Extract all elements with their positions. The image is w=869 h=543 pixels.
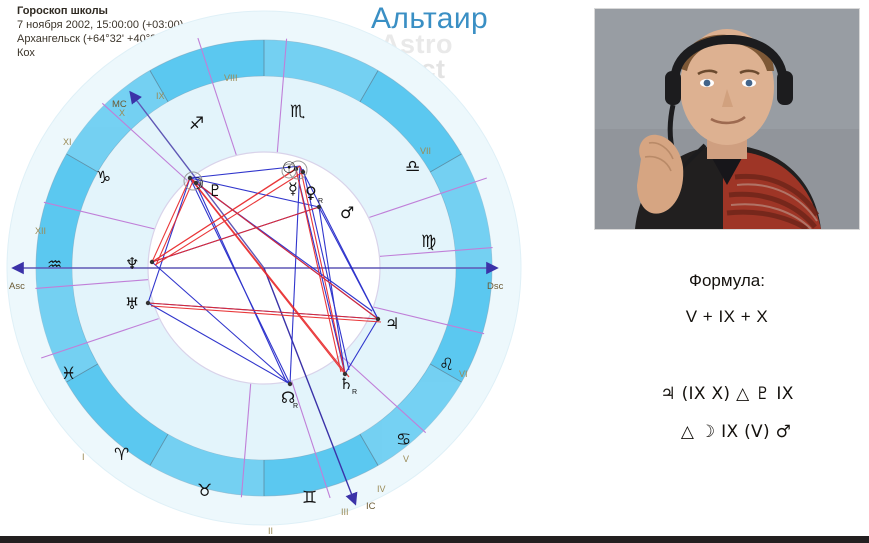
sign-glyph-aries: ♈ — [114, 445, 129, 465]
sign-glyph-virgo: ♍ — [421, 232, 436, 252]
formula-panel: Формула: V + IX + X ♃ (IX X) △ ♇ IX △ ☽ … — [594, 270, 860, 500]
sign-glyph-sagittarius: ♐ — [189, 114, 204, 134]
planet-glyph-pluto: ♇ — [208, 181, 222, 200]
sign-glyph-cancer: ♋ — [396, 430, 411, 450]
retrograde-marker-saturn: R — [352, 389, 357, 396]
sign-glyph-capricorn: ♑ — [96, 168, 111, 188]
house-number-7: VII — [420, 146, 431, 156]
house-number-5: V — [403, 454, 409, 464]
aspect-line-2: △ ☽ IX (V) ♂ — [594, 420, 860, 444]
planet-glyph-jupiter: ♃ — [385, 314, 399, 333]
planet-glyph-venus: ♀ — [305, 183, 317, 202]
house-number-6: VI — [459, 369, 468, 379]
formula-label: Формула: — [594, 270, 860, 292]
house-number-11: XI — [63, 137, 72, 147]
axis-label-ic: IC — [366, 501, 376, 512]
planet-glyph-uranus: ♅ — [125, 294, 139, 313]
house-number-4: IV — [377, 484, 386, 494]
house-number-3: III — [341, 507, 349, 517]
planet-glyph-mars: ♂ — [340, 203, 354, 222]
axis-label-mc: MC — [112, 99, 127, 110]
sign-glyph-gemini: ♊ — [302, 488, 317, 508]
sign-glyph-libra: ♎ — [405, 157, 420, 177]
planet-glyph-sun: ☉ — [282, 158, 296, 177]
sign-glyph-taurus: ♉ — [197, 481, 212, 501]
sign-glyph-pisces: ♓ — [61, 364, 76, 384]
planet-glyph-neptune: ♆ — [125, 254, 139, 273]
axis-label-dsc: Dsc — [487, 281, 504, 292]
aspect-line-1: ♃ (IX X) △ ♇ IX — [594, 382, 860, 406]
sign-glyph-leo: ♌ — [439, 355, 454, 375]
natal-chart: ♐ ♏ ♎ ♍ ♌ ♋ ♊ ♉ ♈ ♓ ♒ ♑ I II III IV V VI… — [0, 6, 560, 536]
house-number-2: II — [268, 526, 273, 536]
house-number-9: IX — [156, 91, 165, 101]
planet-glyph-moon: ☽ — [190, 174, 204, 193]
house-number-12: XII — [35, 226, 46, 236]
house-number-1: I — [82, 452, 85, 462]
webcam-video[interactable] — [594, 8, 860, 230]
bottom-bar — [0, 536, 869, 543]
screenshot-root: Гороскоп школы 7 ноября 2002, 15:00:00 (… — [0, 0, 869, 543]
retrograde-marker-venus: R — [318, 198, 323, 205]
formula-value: V + IX + X — [594, 306, 860, 328]
house-number-8: VIII — [224, 73, 238, 83]
retrograde-marker-northnode: R — [293, 403, 298, 410]
sign-glyph-scorpio: ♏ — [290, 102, 305, 122]
axis-label-asc: Asc — [9, 281, 25, 292]
sign-glyph-aquarius: ♒ — [47, 255, 62, 275]
planet-glyph-mercury: ☿ — [288, 179, 298, 198]
